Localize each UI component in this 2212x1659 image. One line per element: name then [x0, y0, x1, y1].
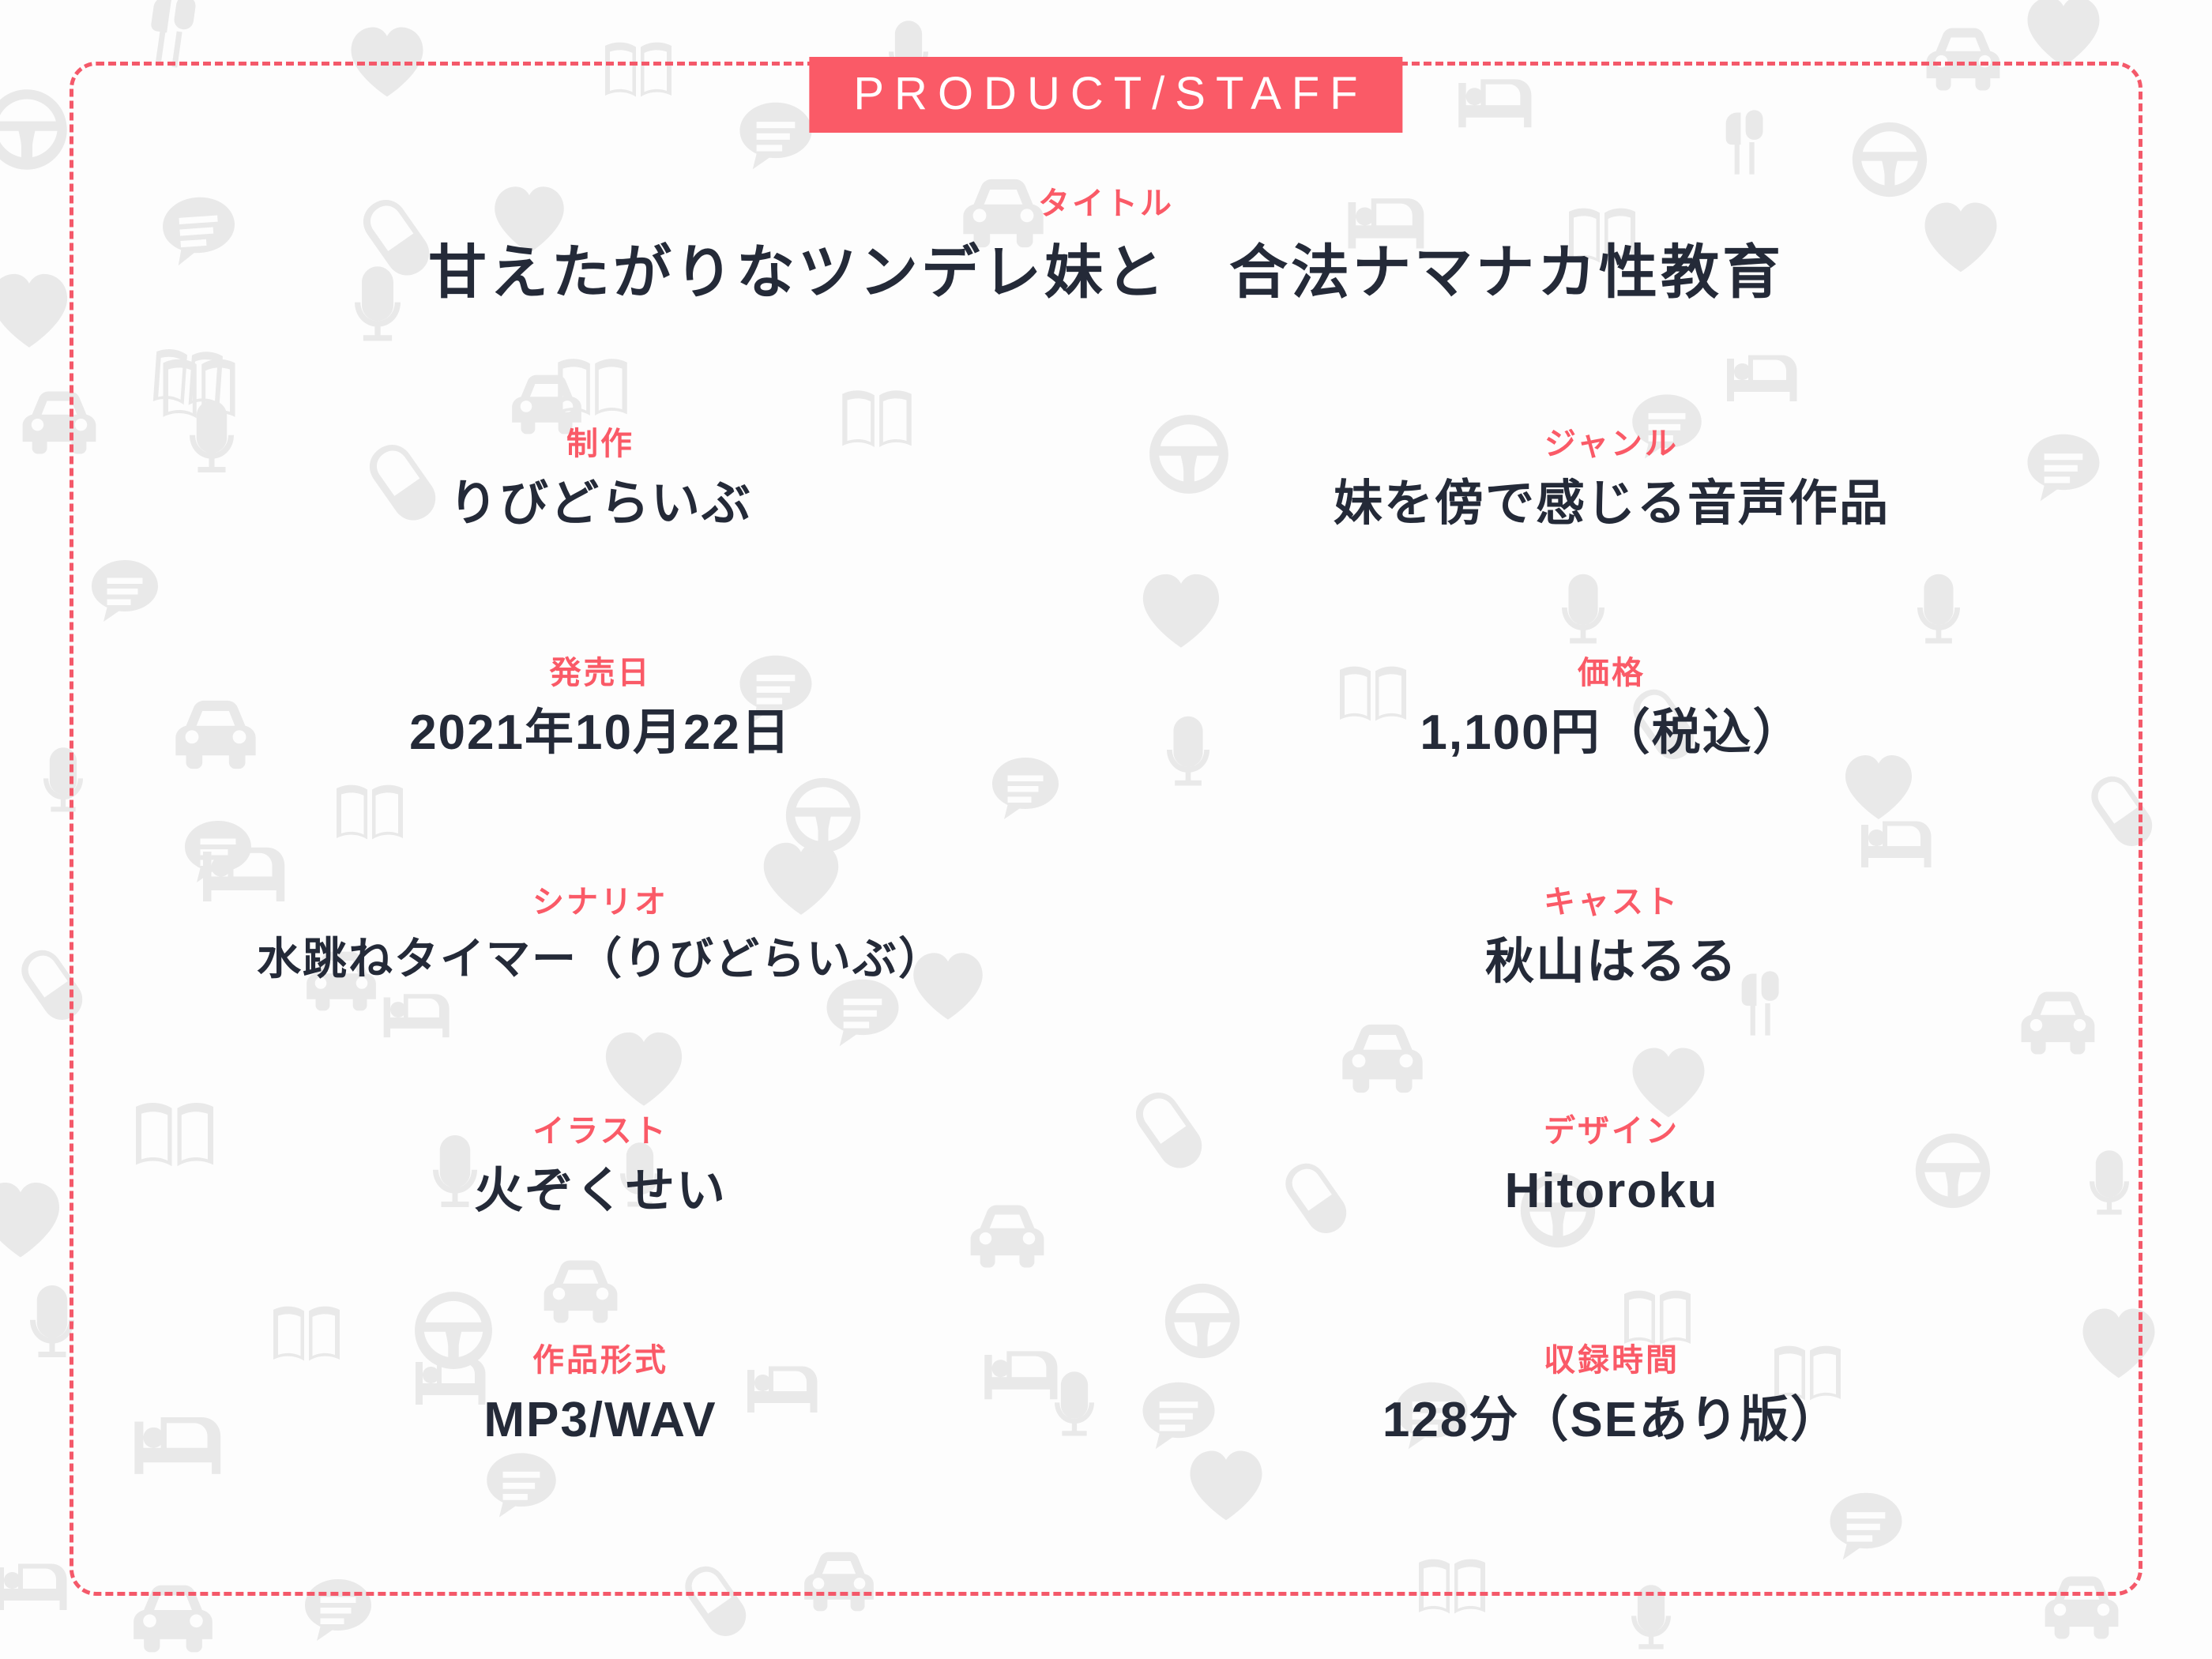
- field-cell: キャスト秋山はるる: [1122, 885, 2101, 1114]
- field-cell: 収録時間128分（SEあり版）: [1122, 1343, 2101, 1572]
- field-value: 秋山はるる: [1485, 934, 1738, 990]
- field-label: 作品形式: [532, 1343, 668, 1378]
- field-title: タイトル 甘えたがりなツンデレ妹と 合法ナマナカ性教育: [0, 186, 2212, 306]
- field-value: 128分（SEあり版）: [1382, 1392, 1841, 1448]
- section-header-badge: PRODUCT/STAFF: [809, 57, 1402, 133]
- field-label: ジャンル: [1544, 427, 1679, 461]
- field-value: 2021年10月22日: [409, 705, 792, 761]
- field-value: Hitoroku: [1505, 1163, 1719, 1219]
- field-label: 価格: [1578, 656, 1646, 690]
- field-cell: 作品形式MP3/WAV: [111, 1343, 1090, 1572]
- field-cell: イラスト火ぞくせい: [111, 1114, 1090, 1343]
- field-label: 収録時間: [1544, 1343, 1680, 1378]
- field-label: 発売日: [550, 656, 652, 690]
- field-label: キャスト: [1544, 885, 1680, 920]
- field-title-label: タイトル: [0, 186, 2212, 221]
- field-value: 火ぞくせい: [474, 1163, 727, 1219]
- field-title-value: 甘えたがりなツンデレ妹と 合法ナマナカ性教育: [0, 239, 2212, 306]
- field-label: シナリオ: [532, 885, 668, 920]
- field-cell: 制作りびどらいぶ: [111, 427, 1090, 656]
- product-staff-card: PRODUCT/STAFF タイトル 甘えたがりなツンデレ妹と 合法ナマナカ性教…: [0, 0, 2212, 1659]
- field-value: りびどらいぶ: [449, 476, 752, 532]
- field-cell: シナリオ水跳ねタイマー（りびどらいぶ）: [111, 885, 1090, 1114]
- field-value: MP3/WAV: [483, 1392, 717, 1448]
- field-grid: 制作りびどらいぶジャンル妹を傍で感じる音声作品発売日2021年10月22日価格1…: [111, 427, 2101, 1572]
- field-cell: デザインHitoroku: [1122, 1114, 2101, 1343]
- field-label: デザイン: [1544, 1114, 1680, 1149]
- field-label: 制作: [566, 427, 634, 461]
- field-label: イラスト: [532, 1114, 668, 1149]
- field-value: 水跳ねタイマー（りびどらいぶ）: [257, 934, 944, 984]
- field-value: 1,100円（税込）: [1420, 705, 1803, 761]
- card-content: タイトル 甘えたがりなツンデレ妹と 合法ナマナカ性教育 制作りびどらいぶジャンル…: [0, 0, 2212, 1659]
- field-cell: 価格1,100円（税込）: [1122, 656, 2101, 885]
- field-cell: ジャンル妹を傍で感じる音声作品: [1122, 427, 2101, 656]
- field-value: 妹を傍で感じる音声作品: [1334, 476, 1890, 532]
- field-cell: 発売日2021年10月22日: [111, 656, 1090, 885]
